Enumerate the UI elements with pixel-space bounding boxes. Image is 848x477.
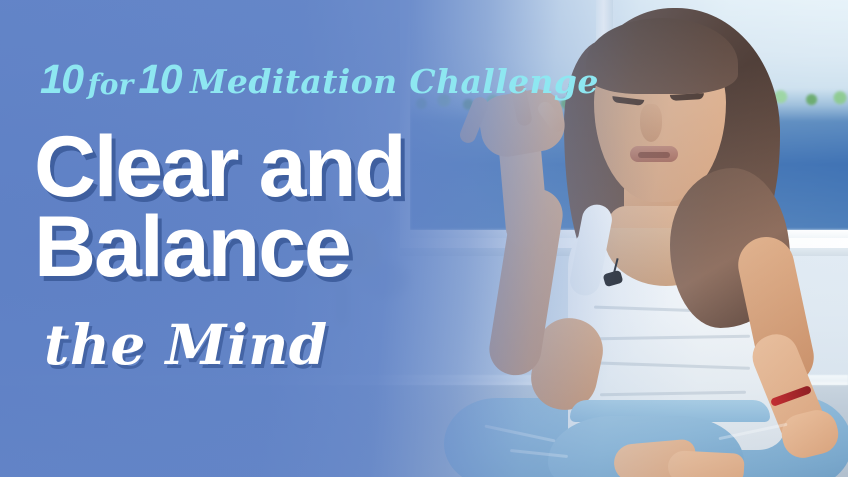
eyebrow-number-two: 10 — [138, 56, 181, 102]
eyebrow-number-one: 10 — [40, 56, 83, 102]
video-thumbnail: 10for10Meditation Challenge Clear and Ba… — [0, 0, 848, 477]
headline: Clear and Balance — [34, 128, 404, 288]
eyebrow-connector: for — [83, 68, 139, 101]
headline-line-2: Balance — [34, 208, 404, 288]
text-overlay: 10for10Meditation Challenge Clear and Ba… — [0, 0, 848, 477]
series-eyebrow: 10for10Meditation Challenge — [40, 56, 599, 103]
subline: the Mind — [44, 312, 328, 377]
eyebrow-script-text: Meditation Challenge — [181, 62, 599, 101]
